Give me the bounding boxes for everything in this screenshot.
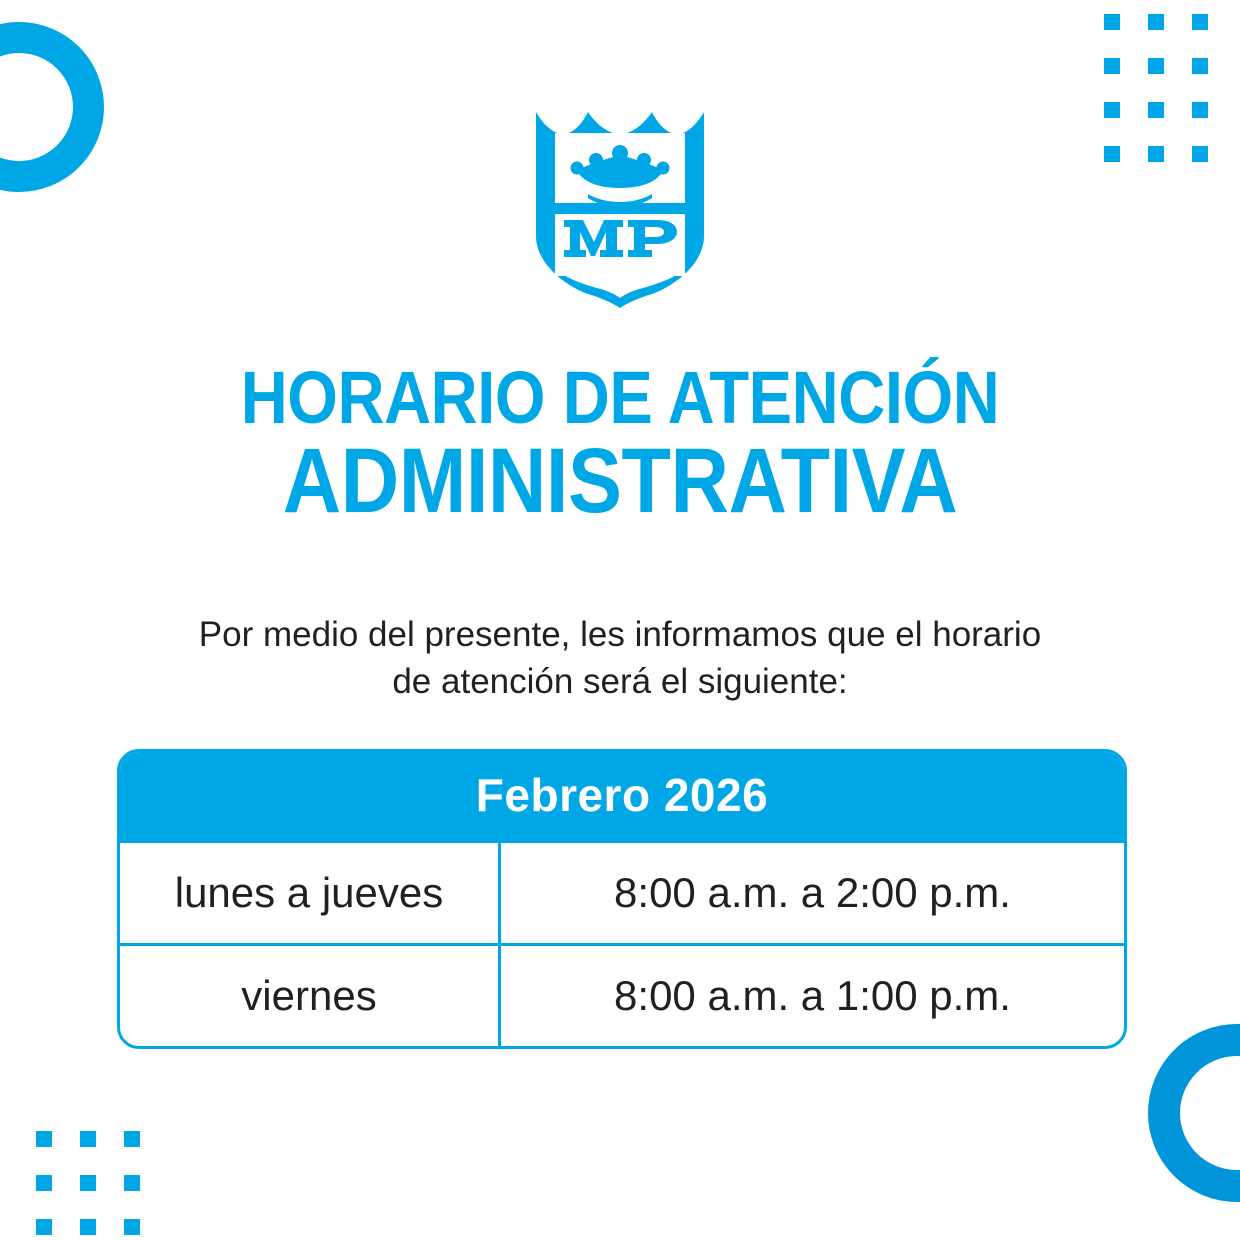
intro-line-2: de atención será el siguiente: <box>120 659 1120 706</box>
dot <box>1148 58 1164 74</box>
schedule-hours-cell: 8:00 a.m. a 1:00 p.m. <box>501 946 1124 1046</box>
table-row: lunes a jueves 8:00 a.m. a 2:00 p.m. <box>120 840 1124 943</box>
dot <box>1192 58 1208 74</box>
dot <box>124 1131 140 1147</box>
schedule-day-cell: viernes <box>120 946 501 1046</box>
dot <box>124 1219 140 1235</box>
dot <box>1104 14 1120 30</box>
dot <box>1192 14 1208 30</box>
dot <box>80 1131 96 1147</box>
page-title: HORARIO DE ATENCIÓN ADMINISTRATIVA <box>0 362 1240 525</box>
dot-grid-bottom-left <box>36 1131 140 1235</box>
poster-canvas: HORARIO DE ATENCIÓN ADMINISTRATIVA Por m… <box>0 0 1240 1240</box>
mp-shield-crown-icon <box>530 108 710 308</box>
intro-paragraph: Por medio del presente, les informamos q… <box>120 612 1120 705</box>
dot <box>1148 14 1164 30</box>
logo <box>0 108 1240 308</box>
dot <box>36 1175 52 1191</box>
schedule-month-header: Febrero 2026 <box>120 752 1124 840</box>
ring-decoration-bottom-right <box>1148 1024 1240 1202</box>
intro-line-1: Por medio del presente, les informamos q… <box>120 612 1120 659</box>
schedule-hours-cell: 8:00 a.m. a 2:00 p.m. <box>501 843 1124 943</box>
schedule-day-cell: lunes a jueves <box>120 843 501 943</box>
dot <box>36 1131 52 1147</box>
dot <box>1104 58 1120 74</box>
dot <box>80 1219 96 1235</box>
title-line-1: HORARIO DE ATENCIÓN <box>74 362 1165 433</box>
dot <box>36 1219 52 1235</box>
dot <box>124 1175 140 1191</box>
table-row: viernes 8:00 a.m. a 1:00 p.m. <box>120 943 1124 1046</box>
schedule-table: Febrero 2026 lunes a jueves 8:00 a.m. a … <box>117 749 1127 1049</box>
title-line-2: ADMINISTRATIVA <box>74 437 1165 525</box>
dot <box>80 1175 96 1191</box>
